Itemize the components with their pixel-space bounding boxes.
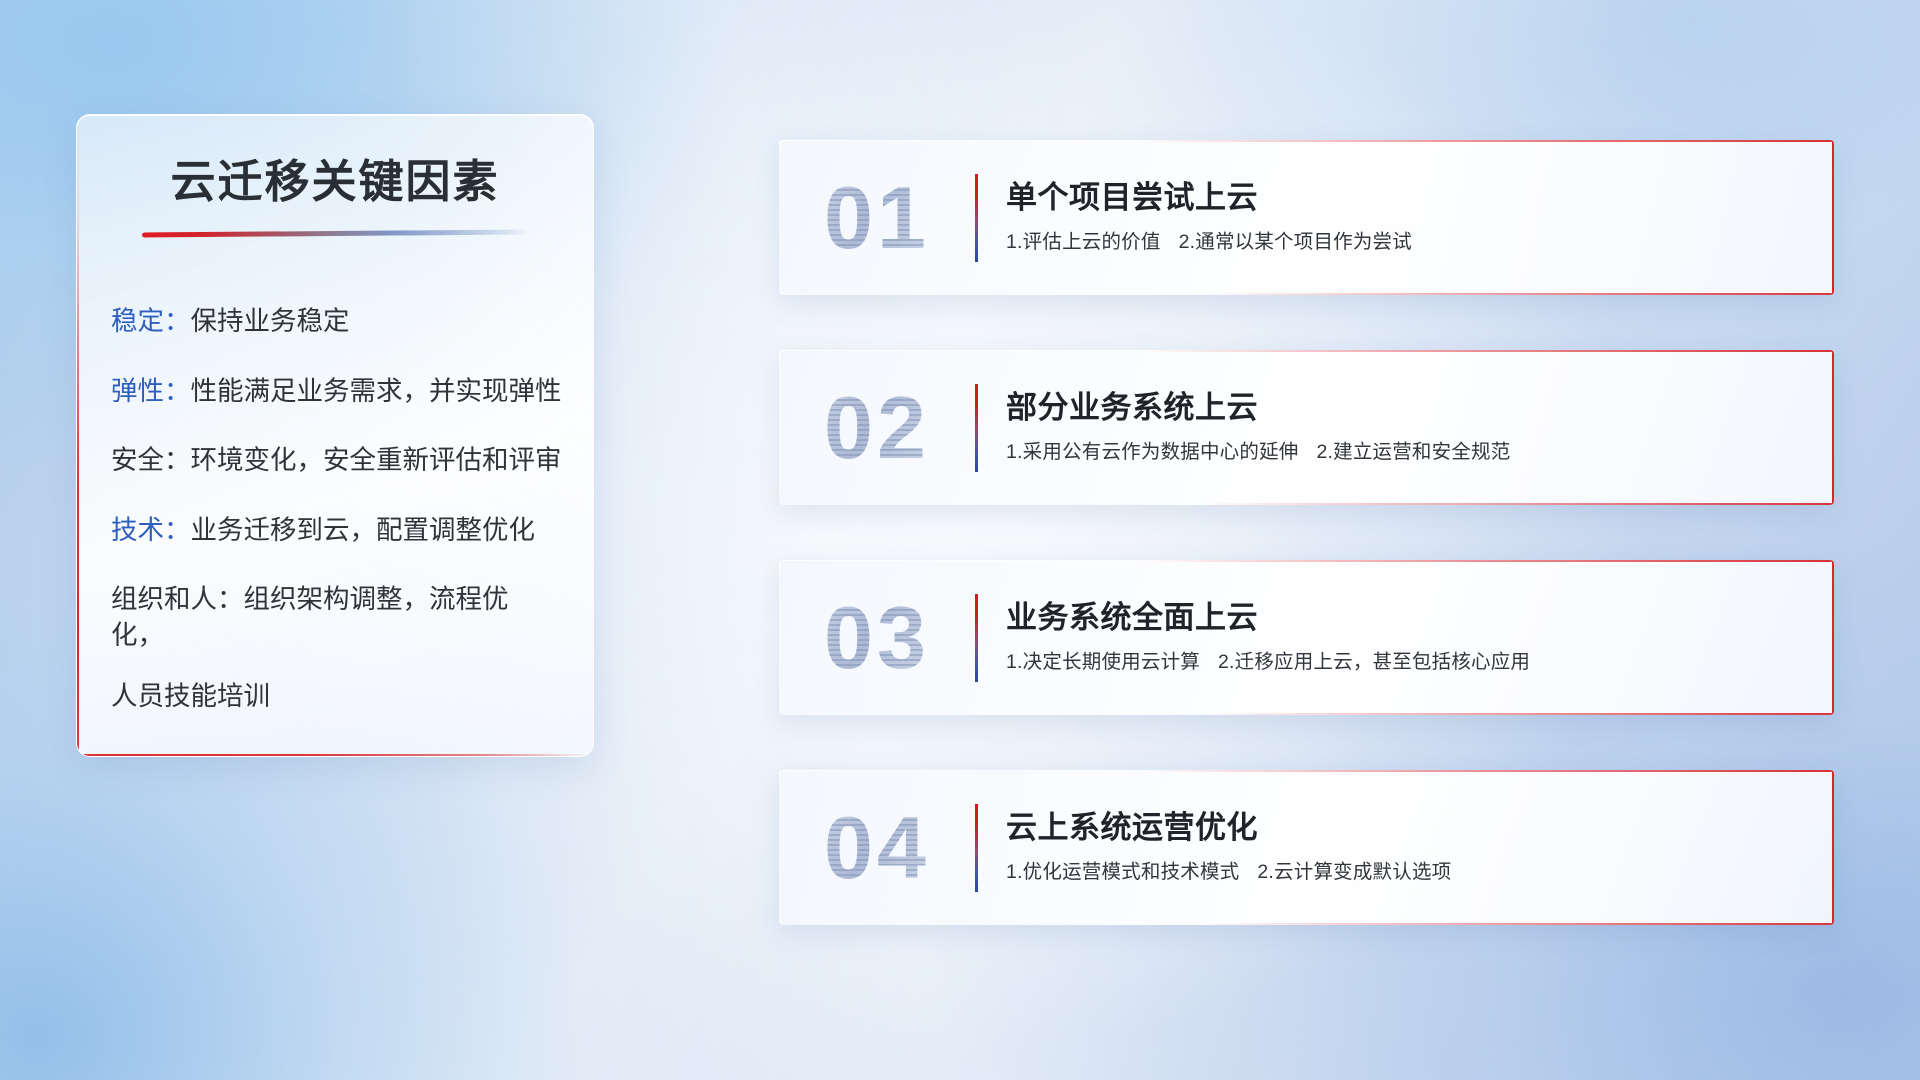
step-card-03[interactable]: 03 业务系统全面上云 1.决定长期使用云计算2.迁移应用上云，甚至包括核心应用 xyxy=(779,560,1834,715)
step-description-part-2: 2.建立运营和安全规范 xyxy=(1316,441,1510,463)
factor-item: 稳定： 保持业务稳定 xyxy=(111,304,559,340)
factor-item: 技术： 业务迁移到云，配置调整优化 xyxy=(111,513,559,549)
step-number: 04 xyxy=(779,804,975,892)
key-factors-panel: 云迁移关键因素 稳定： 保持业务稳定 弹性： 性能满足业务需求，并实现弹性 安全… xyxy=(76,114,594,757)
step-description-part-2: 2.迁移应用上云，甚至包括核心应用 xyxy=(1218,651,1530,673)
step-divider xyxy=(975,594,978,682)
factor-label: 技术： xyxy=(111,513,191,549)
factor-label: 弹性： xyxy=(111,374,191,410)
step-divider xyxy=(975,174,978,262)
factor-label: 稳定： xyxy=(111,304,191,340)
step-description-part-2: 2.通常以某个项目作为尝试 xyxy=(1179,231,1412,253)
factor-text: 保持业务稳定 xyxy=(191,304,350,340)
factor-label: 安全： xyxy=(111,443,191,479)
step-title: 云上系统运营优化 xyxy=(1006,810,1808,847)
step-card-04[interactable]: 04 云上系统运营优化 1.优化运营模式和技术模式2.云计算变成默认选项 xyxy=(779,770,1834,925)
step-description: 1.决定长期使用云计算2.迁移应用上云，甚至包括核心应用 xyxy=(1006,650,1808,675)
step-number: 03 xyxy=(779,594,975,682)
step-number: 02 xyxy=(779,384,975,472)
step-divider xyxy=(975,384,978,472)
step-number: 01 xyxy=(779,174,975,262)
step-description-part-1: 1.评估上云的价值 xyxy=(1006,231,1161,253)
title-underline-rule xyxy=(142,229,528,237)
factor-text: 业务迁移到云，配置调整优化 xyxy=(191,513,536,549)
step-description-part-2: 2.云计算变成默认选项 xyxy=(1257,861,1451,883)
factor-item: 组织和人：组织架构调整，流程优化， 人员技能培训 xyxy=(111,582,559,715)
migration-steps-list: 01 单个项目尝试上云 1.评估上云的价值2.通常以某个项目作为尝试 02 部分… xyxy=(779,140,1834,925)
factor-item: 安全： 环境变化，安全重新评估和评审 xyxy=(111,443,559,479)
step-body: 业务系统全面上云 1.决定长期使用云计算2.迁移应用上云，甚至包括核心应用 xyxy=(1006,600,1834,676)
step-card-02[interactable]: 02 部分业务系统上云 1.采用公有云作为数据中心的延伸2.建立运营和安全规范 xyxy=(779,350,1834,505)
step-card-01[interactable]: 01 单个项目尝试上云 1.评估上云的价值2.通常以某个项目作为尝试 xyxy=(779,140,1834,295)
step-body: 部分业务系统上云 1.采用公有云作为数据中心的延伸2.建立运营和安全规范 xyxy=(1006,390,1834,466)
factor-text: 性能满足业务需求，并实现弹性 xyxy=(191,374,562,410)
page-title: 云迁移关键因素 xyxy=(77,155,593,209)
step-description: 1.评估上云的价值2.通常以某个项目作为尝试 xyxy=(1006,230,1808,255)
step-divider xyxy=(975,804,978,892)
step-body: 云上系统运营优化 1.优化运营模式和技术模式2.云计算变成默认选项 xyxy=(1006,810,1834,886)
factor-item: 弹性： 性能满足业务需求，并实现弹性 xyxy=(111,374,559,410)
step-title: 单个项目尝试上云 xyxy=(1006,180,1808,217)
factor-label: 组织和人： xyxy=(111,584,244,614)
factor-text-continuation: 人员技能培训 xyxy=(111,679,559,715)
step-description: 1.优化运营模式和技术模式2.云计算变成默认选项 xyxy=(1006,860,1808,885)
step-description: 1.采用公有云作为数据中心的延伸2.建立运营和安全规范 xyxy=(1006,440,1808,465)
step-title: 部分业务系统上云 xyxy=(1006,390,1808,427)
factor-list: 稳定： 保持业务稳定 弹性： 性能满足业务需求，并实现弹性 安全： 环境变化，安… xyxy=(77,304,593,715)
step-title: 业务系统全面上云 xyxy=(1006,600,1808,637)
slide-canvas: 云迁移关键因素 稳定： 保持业务稳定 弹性： 性能满足业务需求，并实现弹性 安全… xyxy=(0,0,1920,1080)
step-description-part-1: 1.优化运营模式和技术模式 xyxy=(1006,861,1239,883)
step-description-part-1: 1.采用公有云作为数据中心的延伸 xyxy=(1006,441,1298,463)
step-description-part-1: 1.决定长期使用云计算 xyxy=(1006,651,1200,673)
step-body: 单个项目尝试上云 1.评估上云的价值2.通常以某个项目作为尝试 xyxy=(1006,180,1834,256)
factor-text: 环境变化，安全重新评估和评审 xyxy=(191,443,562,479)
